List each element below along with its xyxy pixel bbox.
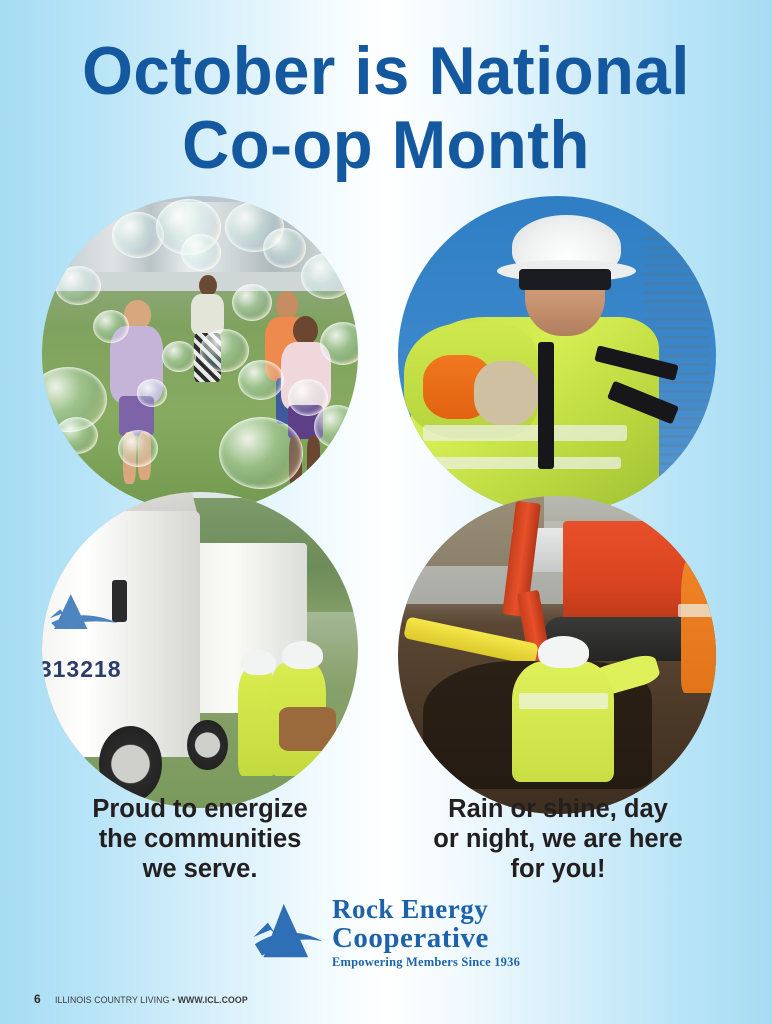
trench-worker-hard-hat [538, 636, 589, 668]
bubble [55, 417, 98, 454]
bubble [238, 360, 284, 400]
truck-unit-number: 313218 [42, 656, 122, 683]
bubble [137, 379, 167, 406]
page-footer: 6 ILLINOIS COUNTRY LIVING • WWW.ICL.COOP [34, 992, 264, 1006]
photo-bucket-trucks: 313218 [42, 492, 358, 808]
publication-website: WWW.ICL.COOP [177, 995, 247, 1006]
page-headline: October is National Co-op Month [15, 34, 756, 182]
photo-collage: 313218 [0, 196, 772, 788]
caption-left: Proud to energize the communities we ser… [40, 794, 360, 884]
bubble [301, 253, 354, 299]
bubble [181, 234, 221, 271]
logo-line-2: Cooperative [332, 924, 520, 953]
caption-right: Rain or shine, day or night, we are here… [398, 794, 718, 884]
mountain-lightning-logo-mark [252, 901, 324, 963]
caption-left-line-3: we serve. [40, 854, 360, 884]
bubble [55, 266, 101, 306]
headline-line-1: October is National [15, 34, 756, 108]
ad-page: October is National Co-op Month [0, 0, 772, 1024]
bubble [314, 405, 358, 448]
photo-kids-bubbles [42, 196, 358, 512]
cooperative-logo: Rock Energy Cooperative Empowering Membe… [0, 896, 772, 968]
hard-hat-b [282, 641, 323, 669]
caption-row: Proud to energize the communities we ser… [0, 794, 772, 894]
yellow-conduit-pipe [404, 616, 539, 666]
caption-left-line-2: the communities [40, 824, 360, 854]
bubble [200, 329, 249, 372]
publication-credit: ILLINOIS COUNTRY LIVING • WWW.ICL.COOP [55, 995, 248, 1006]
lineman-glove [474, 361, 538, 425]
trench-worker-body [512, 661, 614, 782]
photo-trench-excavator [398, 496, 716, 814]
truck-logo-mark [45, 587, 121, 638]
bubble [263, 228, 306, 268]
lineman-sunglasses [519, 269, 611, 290]
caption-right-line-2: or night, we are here [398, 824, 718, 854]
publication-name: ILLINOIS COUNTRY LIVING [55, 995, 169, 1006]
bubble [162, 341, 196, 371]
bubble [118, 430, 158, 467]
footer-separator: • [172, 995, 175, 1006]
hard-hat-a [241, 650, 276, 675]
headline-line-2: Co-op Month [15, 108, 756, 182]
photo-lineman-pole [398, 196, 716, 514]
tool-bag [279, 707, 336, 751]
logo-line-1: Rock Energy [332, 896, 520, 923]
bubble [232, 284, 272, 321]
caption-right-line-1: Rain or shine, day [398, 794, 718, 824]
page-number: 6 [34, 992, 41, 1006]
logo-tagline: Empowering Members Since 1936 [332, 956, 520, 969]
bubble [219, 417, 303, 489]
caption-left-line-1: Proud to energize [40, 794, 360, 824]
caption-right-line-3: for you! [398, 854, 718, 884]
worker-orange-vest [681, 553, 716, 693]
